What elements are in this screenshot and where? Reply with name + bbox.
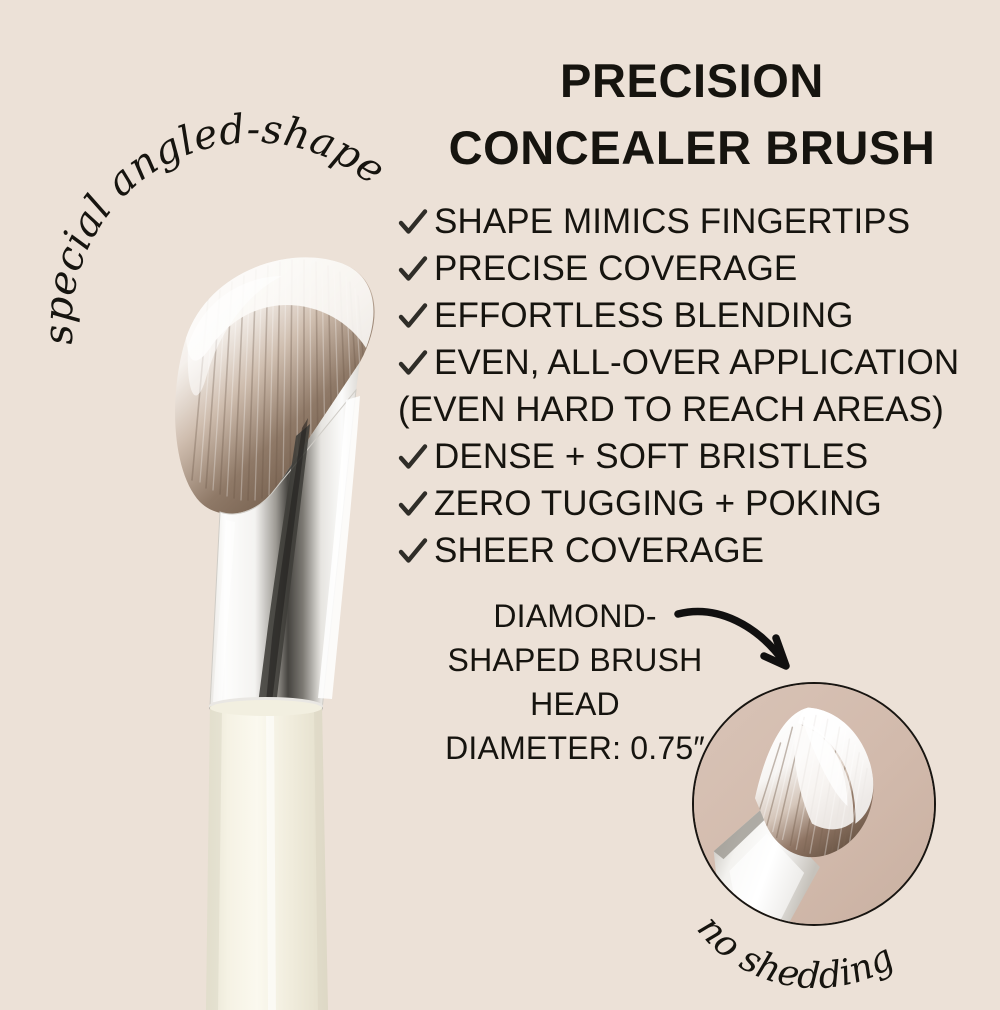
feature-label: SHAPE MIMICS FINGERTIPS bbox=[434, 198, 910, 245]
check-icon bbox=[398, 199, 434, 246]
check-icon bbox=[398, 293, 434, 340]
check-icon bbox=[398, 528, 434, 575]
check-icon bbox=[398, 246, 434, 293]
feature-item: SHEER COVERAGE bbox=[398, 527, 994, 574]
infographic-canvas: special angled-shape bbox=[0, 0, 1000, 1000]
feature-item: EVEN, ALL-OVER APPLICATION bbox=[398, 339, 994, 386]
feature-label: DENSE + SOFT BRISTLES bbox=[434, 433, 868, 480]
feature-item: ZERO TUGGING + POKING bbox=[398, 480, 994, 527]
feature-label: EFFORTLESS BLENDING bbox=[434, 292, 853, 339]
feature-list: SHAPE MIMICS FINGERTIPS PRECISE COVERAGE… bbox=[398, 198, 994, 574]
feature-label: ZERO TUGGING + POKING bbox=[434, 480, 882, 527]
feature-label: (EVEN HARD TO REACH AREAS) bbox=[398, 386, 944, 433]
callout-line-4: DIAMETER: 0.75″ bbox=[430, 726, 720, 770]
title-line-2: CONCEALER BRUSH bbox=[392, 115, 992, 182]
page-title: PRECISION CONCEALER BRUSH bbox=[392, 48, 992, 181]
check-icon bbox=[398, 481, 434, 528]
brush-handle bbox=[206, 700, 328, 1010]
callout-line-3: HEAD bbox=[430, 682, 720, 726]
check-icon bbox=[398, 340, 434, 387]
curved-arrow-icon bbox=[676, 596, 836, 688]
brush-head-inset-photo bbox=[692, 682, 936, 926]
title-line-1: PRECISION bbox=[392, 48, 992, 115]
feature-item: SHAPE MIMICS FINGERTIPS bbox=[398, 198, 994, 245]
feature-item: EFFORTLESS BLENDING bbox=[398, 292, 994, 339]
brush-illustration bbox=[60, 150, 420, 1010]
feature-label: SHEER COVERAGE bbox=[434, 527, 764, 574]
check-icon bbox=[398, 434, 434, 481]
feature-item: DENSE + SOFT BRISTLES bbox=[398, 433, 994, 480]
feature-item-continuation: (EVEN HARD TO REACH AREAS) bbox=[398, 386, 994, 433]
feature-label: PRECISE COVERAGE bbox=[434, 245, 797, 292]
feature-label: EVEN, ALL-OVER APPLICATION bbox=[434, 339, 959, 386]
feature-item: PRECISE COVERAGE bbox=[398, 245, 994, 292]
